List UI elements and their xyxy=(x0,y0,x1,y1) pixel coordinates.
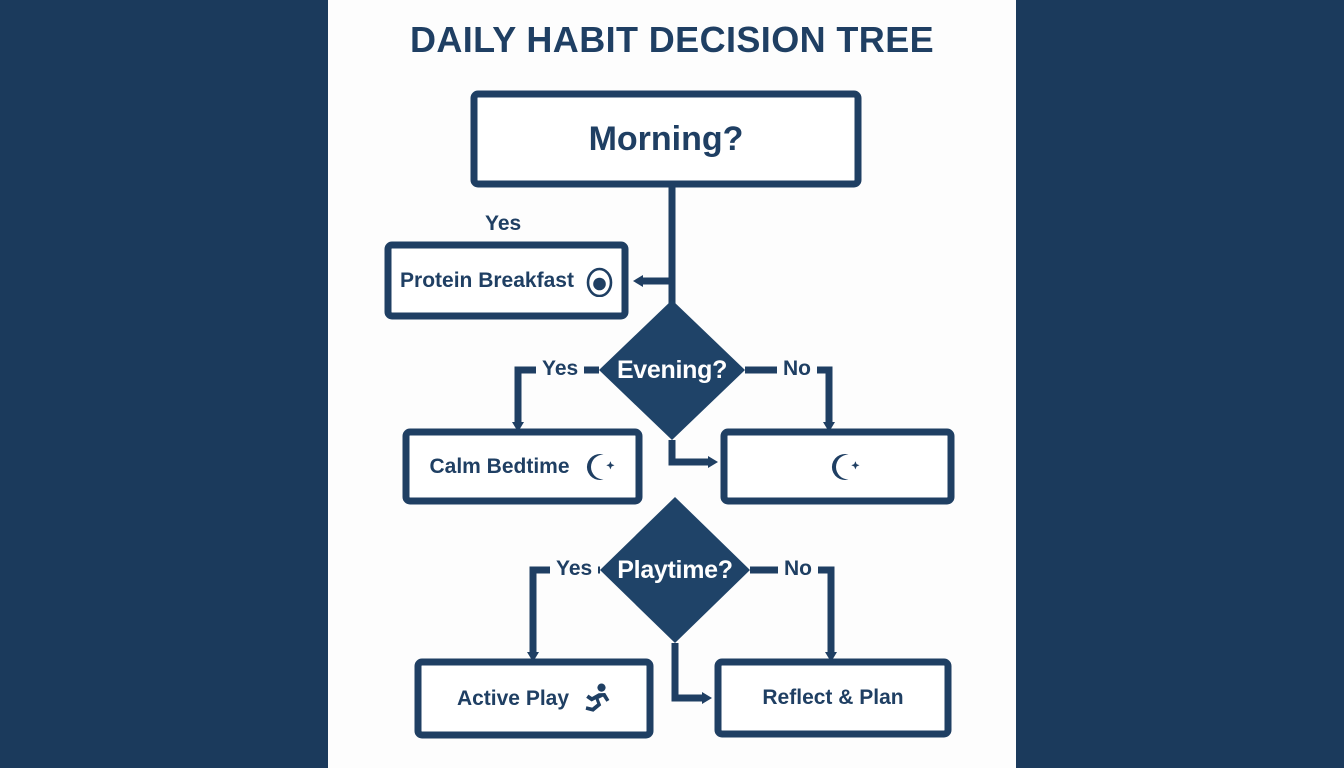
egg-icon xyxy=(586,264,613,297)
node-breakfast-label-wrap: Protein Breakfast xyxy=(388,245,625,316)
edge-playtime-bottom-to-reflect xyxy=(675,643,705,698)
diagram-stage: DAILY HABIT DECISION TREE Morning? Prote… xyxy=(0,0,1344,768)
branch-label-morning-yes: Yes xyxy=(485,212,521,236)
edge-playtime-yes xyxy=(533,570,600,655)
node-evening-label-wrap: Evening? xyxy=(599,348,745,392)
node-breakfast-label: Protein Breakfast xyxy=(400,269,574,293)
diagram-canvas: DAILY HABIT DECISION TREE Morning? Prote… xyxy=(328,0,1016,768)
branch-label-playtime-yes: Yes xyxy=(550,557,598,581)
page-title: DAILY HABIT DECISION TREE xyxy=(328,19,1016,61)
edge-playtime-no xyxy=(750,570,831,655)
node-bedtime-label: Calm Bedtime xyxy=(429,455,569,479)
node-bedtime-label-wrap: Calm Bedtime xyxy=(406,432,639,501)
node-playtime-label-wrap: Playtime? xyxy=(600,548,750,592)
branch-label-evening-yes: Yes xyxy=(536,357,584,381)
left-background-panel xyxy=(0,0,328,768)
branch-label-evening-no: No xyxy=(777,357,817,381)
moon-star-icon xyxy=(827,452,861,482)
branch-label-playtime-no: No xyxy=(778,557,818,581)
node-night-label-wrap xyxy=(724,432,951,501)
node-activeplay-label: Active Play xyxy=(457,687,569,711)
moon-star-icon xyxy=(582,452,616,482)
node-activeplay-label-wrap: Active Play xyxy=(418,662,650,735)
node-reflect-label-wrap: Reflect & Plan xyxy=(718,662,948,734)
node-morning-label: Morning? xyxy=(589,120,744,159)
node-evening-label: Evening? xyxy=(617,356,727,385)
running-person-icon xyxy=(581,683,611,715)
node-playtime-label: Playtime? xyxy=(617,556,732,585)
node-reflect-label: Reflect & Plan xyxy=(762,686,903,710)
right-background-panel xyxy=(1016,0,1344,768)
edge-evening-bottom-to-night xyxy=(672,440,711,462)
node-morning-label-wrap: Morning? xyxy=(474,94,858,184)
